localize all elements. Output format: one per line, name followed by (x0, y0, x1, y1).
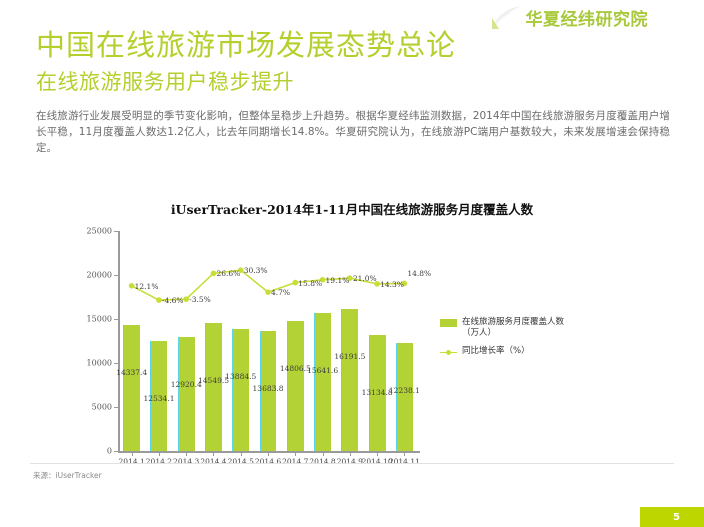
y-tick-mark (114, 275, 118, 276)
chart-bar (287, 321, 304, 451)
body-paragraph: 在线旅游行业发展受明显的季节变化影响，但整体呈稳步上升趋势。根据华夏经纬监测数据… (36, 108, 670, 156)
line-point-label: 26.6% (216, 269, 240, 278)
x-tick-mark (295, 452, 296, 456)
y-tick-mark (114, 407, 118, 408)
x-tick-label: 2014.4 (200, 457, 226, 466)
legend-line-marker-icon (440, 348, 457, 356)
chart-bar (314, 313, 331, 451)
legend-item-growth: 同比增长率（%） (440, 346, 580, 357)
legend-item-coverage: 在线旅游服务月度覆盖人数（万人） (440, 317, 580, 339)
page-subtitle: 在线旅游服务用户稳步提升 (36, 66, 294, 96)
x-tick-mark (132, 452, 133, 456)
x-tick-label: 2014.8 (309, 457, 335, 466)
source-note: 来源：iUserTracker (33, 470, 102, 481)
x-tick-label: 2014.2 (146, 457, 172, 466)
line-point-label: 21.0% (353, 274, 377, 283)
x-tick-label: 2014.1 (119, 457, 145, 466)
chart-bar (178, 337, 195, 451)
x-tick-mark (159, 452, 160, 456)
chart-bar (123, 325, 140, 451)
line-point-label: -3.5% (189, 295, 211, 304)
chart-title: iUserTracker-2014年1-11月中国在线旅游服务月度覆盖人数 (0, 199, 704, 218)
line-point-label: 19.1% (326, 276, 350, 285)
y-tick-mark (114, 231, 118, 232)
x-tick-label: 2014.6 (255, 457, 281, 466)
y-tick-mark (114, 363, 118, 364)
y-tick-label: 0 (0, 447, 112, 456)
bar-value-label: 16191.5 (334, 352, 365, 361)
x-tick-mark (377, 452, 378, 456)
x-tick-mark (268, 452, 269, 456)
line-point-label: 15.8% (298, 279, 322, 288)
swoosh-logo-icon (492, 4, 522, 30)
line-point-label: 30.3% (244, 266, 268, 275)
x-tick-label: 2014.9 (337, 457, 363, 466)
chart-bar (205, 323, 222, 451)
page-title: 中国在线旅游市场发展态势总论 (36, 22, 456, 64)
y-tick-mark (114, 451, 118, 452)
line-point-label: 12.1% (135, 282, 159, 291)
x-tick-mark (186, 452, 187, 456)
y-tick-label: 20000 (0, 271, 112, 280)
chart-legend: 在线旅游服务月度覆盖人数（万人） 同比增长率（%） (440, 317, 580, 364)
bar-value-label: 15641.6 (307, 366, 338, 375)
x-axis (118, 451, 420, 453)
footer-divider (30, 463, 674, 464)
x-tick-mark (241, 452, 242, 456)
bar-value-label: 14337.4 (116, 368, 147, 377)
legend-item-label: 同比增长率（%） (462, 346, 530, 357)
chart-bar (232, 329, 249, 451)
y-tick-label: 15000 (0, 315, 112, 324)
bar-value-label: 12534.1 (143, 394, 174, 403)
x-tick-mark (350, 452, 351, 456)
x-tick-label: 2014.3 (173, 457, 199, 466)
x-tick-label: 2014.5 (228, 457, 254, 466)
legend-bar-swatch-icon (440, 319, 457, 327)
y-tick-label: 25000 (0, 227, 112, 236)
x-tick-label: 2014.7 (282, 457, 308, 466)
y-tick-mark (114, 319, 118, 320)
line-point-label: 14.3% (380, 280, 404, 289)
legend-item-label: 在线旅游服务月度覆盖人数（万人） (462, 317, 580, 339)
x-tick-mark (213, 452, 214, 456)
line-point-label: -4.6% (162, 296, 184, 305)
y-tick-label: 10000 (0, 359, 112, 368)
line-point-label: 14.8% (407, 269, 431, 278)
page-number: 5 (673, 512, 680, 523)
x-tick-label: 2014.11 (389, 457, 420, 466)
bar-value-label: 13884.5 (225, 372, 256, 381)
chart-container: iUserTracker-2014年1-11月中国在线旅游服务月度覆盖人数 14… (0, 195, 704, 485)
brand-logo-text: 华夏经纬研究院 (526, 5, 649, 30)
chart-bar (341, 309, 358, 451)
plot-area: 14337.412534.112920.414549.513884.513683… (118, 231, 418, 451)
chart-bar (396, 343, 413, 451)
y-tick-label: 5000 (0, 403, 112, 412)
x-tick-mark (323, 452, 324, 456)
x-tick-mark (404, 452, 405, 456)
line-point-label: 4.7% (271, 288, 290, 297)
page-number-bar (640, 507, 704, 527)
bar-value-label: 12238.1 (389, 386, 420, 395)
brand-logo: 华夏经纬研究院 (492, 4, 649, 30)
bar-value-label: 13683.8 (253, 384, 284, 393)
